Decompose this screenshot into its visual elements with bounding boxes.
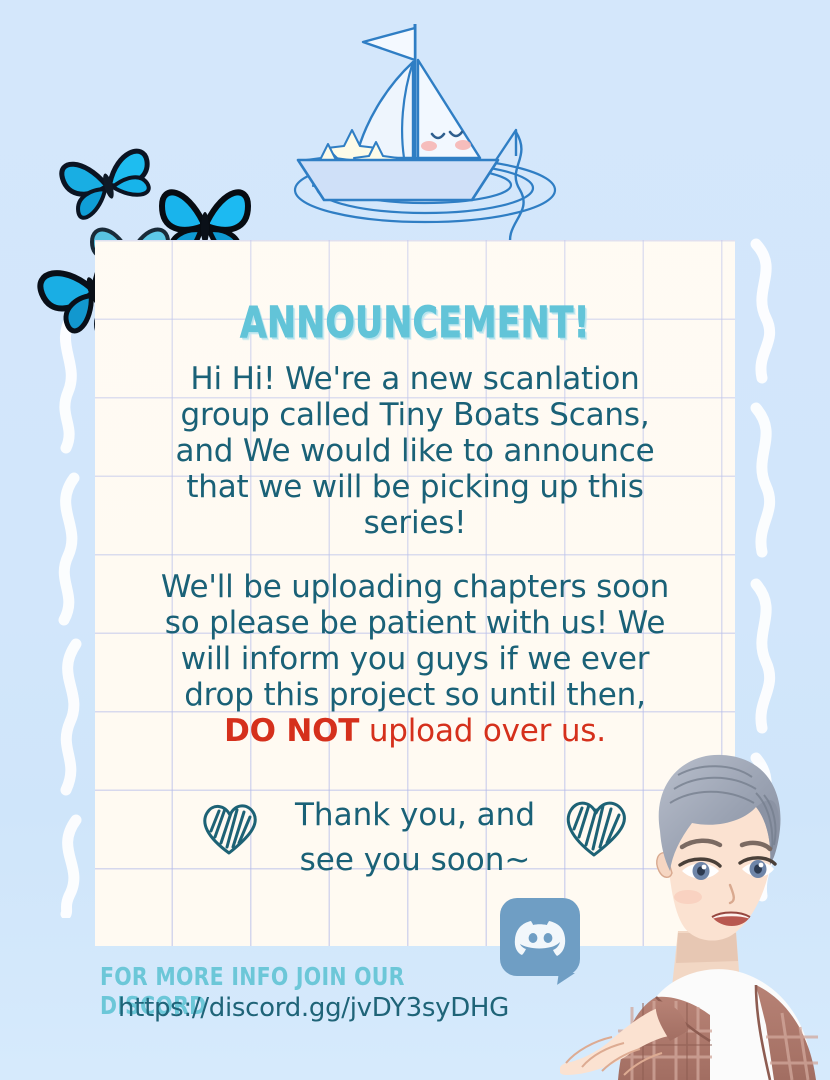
manhwa-character-illustration xyxy=(560,745,830,1080)
paragraph-line: that we will be picking up this xyxy=(109,469,721,505)
paragraph-line: group called Tiny Boats Scans, xyxy=(109,397,721,433)
discord-invite-url[interactable]: https://discord.gg/jvDY3syDHG xyxy=(118,993,538,1023)
paragraph-line: will inform you guys if we ever xyxy=(109,641,721,677)
page-title: ANNOUNCEMENT! xyxy=(159,298,671,348)
announcement-page: ANNOUNCEMENT! Hi Hi! We're a new scanlat… xyxy=(0,0,830,1080)
warning-rest: upload over us. xyxy=(359,713,606,749)
paragraph-intro: Hi Hi! We're a new scanlation group call… xyxy=(109,361,721,541)
squiggle-decoration-left xyxy=(42,308,102,918)
paragraph-line: and We would like to announce xyxy=(109,433,721,469)
warning-line: DO NOT upload over us. xyxy=(109,713,721,749)
warning-emphasis: DO NOT xyxy=(224,713,359,749)
paragraph-line: series! xyxy=(109,505,721,541)
paragraph-line: Hi Hi! We're a new scanlation xyxy=(109,361,721,397)
paragraph-line: drop this project so until then, xyxy=(109,677,721,713)
paragraph-line: so please be patient with us! We xyxy=(109,605,721,641)
paragraph-details: We'll be uploading chapters soon so plea… xyxy=(109,569,721,749)
paragraph-line: We'll be uploading chapters soon xyxy=(109,569,721,605)
